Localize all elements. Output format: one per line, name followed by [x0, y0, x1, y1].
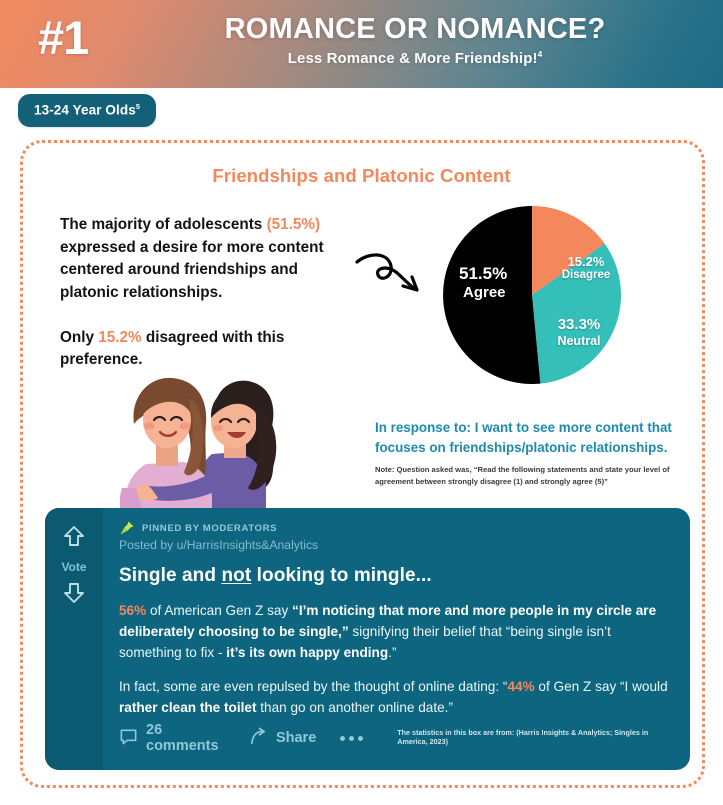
age-range-badge: 13-24 Year Olds5 — [18, 94, 156, 127]
summary-paragraph-1: The majority of adolescents (51.5%) expr… — [60, 214, 360, 305]
para1-bold-2: it’s its own happy ending — [226, 645, 388, 660]
copy-p1-part-b: expressed a desire for more content cent… — [60, 239, 324, 301]
pinned-label: PINNED BY MODERATORS — [142, 523, 277, 534]
post-title[interactable]: Single and not looking to mingle... — [119, 565, 674, 587]
summary-copy: The majority of adolescents (51.5%) expr… — [60, 214, 360, 372]
downvote-arrow-icon[interactable] — [62, 581, 86, 610]
pie-slice-agree — [443, 206, 540, 384]
share-button[interactable]: Share — [249, 727, 316, 750]
comments-count-label: 26 comments — [146, 722, 229, 754]
age-badge-label: 13-24 Year Olds — [34, 103, 136, 118]
posted-by[interactable]: Posted by u/HarrisInsights&Analytics — [119, 538, 674, 552]
post-action-row: 26 comments Share The statistics in this… — [119, 722, 676, 754]
header-banner: #1 ROMANCE OR NOMANCE? Less Romance & Mo… — [0, 0, 723, 88]
chart-note: Note: Question asked was, “Read the foll… — [375, 464, 675, 488]
para2-part-b: of Gen Z say “I would — [535, 679, 668, 694]
para2-part-c: than go on another online date.” — [256, 700, 453, 715]
two-friends-illustration — [116, 368, 304, 525]
copy-p2-stat: 15.2% — [98, 329, 141, 346]
chart-question-caption: In response to: I want to see more conte… — [375, 418, 685, 458]
copy-p1-stat: (51.5%) — [267, 216, 321, 233]
post-title-part-a: Single and — [119, 565, 221, 586]
para1-part-a: of American Gen Z say — [146, 603, 292, 618]
page-title: ROMANCE OR NOMANCE? — [160, 14, 670, 46]
share-label: Share — [276, 730, 316, 746]
post-paragraph-2: In fact, some are even repulsed by the t… — [119, 676, 674, 718]
vote-label: Vote — [61, 560, 86, 574]
share-arrow-icon — [249, 727, 268, 750]
page-subtitle: Less Romance & More Friendship!4 — [160, 50, 670, 67]
para2-bold: rather clean the toilet — [119, 700, 256, 715]
copy-p1-part-a: The majority of adolescents — [60, 216, 267, 233]
post-title-part-b: looking to mingle... — [251, 565, 432, 586]
rank-number: #1 — [38, 14, 88, 61]
more-dots-icon[interactable] — [340, 736, 363, 741]
post-paragraph-1: 56% of American Gen Z say “I’m noticing … — [119, 600, 674, 663]
age-badge-footnote: 5 — [136, 102, 140, 111]
para1-stat: 56% — [119, 603, 146, 618]
upvote-arrow-icon[interactable] — [62, 524, 86, 553]
vote-column[interactable]: Vote — [45, 508, 103, 770]
comment-bubble-icon — [119, 727, 138, 750]
pie-chart: 51.5% Agree 15.2% Disagree 33.3% Neutral — [443, 206, 621, 384]
curly-arrow-icon — [355, 248, 425, 309]
para2-stat: 44% — [507, 679, 534, 694]
subtitle-footnote: 4 — [538, 50, 543, 59]
header-text-group: ROMANCE OR NOMANCE? Less Romance & More … — [160, 14, 670, 67]
reddit-post-card: Vote PINNED BY MODERATORS Posted by u/Ha… — [45, 508, 690, 770]
pin-icon — [119, 520, 135, 536]
source-citation: The statistics in this box are from: (Ha… — [397, 729, 676, 746]
pie-chart-svg — [443, 206, 621, 384]
comments-button[interactable]: 26 comments — [119, 722, 229, 754]
para2-part-a: In fact, some are even repulsed by the t… — [119, 679, 507, 694]
section-title: Friendships and Platonic Content — [0, 165, 723, 187]
para1-part-c: .” — [388, 645, 396, 660]
summary-paragraph-2: Only 15.2% disagreed with this preferenc… — [60, 327, 360, 372]
subtitle-text: Less Romance & More Friendship! — [288, 50, 538, 67]
copy-p2-part-a: Only — [60, 329, 98, 346]
pinned-row: PINNED BY MODERATORS — [119, 520, 674, 536]
post-title-underlined: not — [221, 565, 251, 586]
infographic-page: #1 ROMANCE OR NOMANCE? Less Romance & Mo… — [0, 0, 723, 805]
